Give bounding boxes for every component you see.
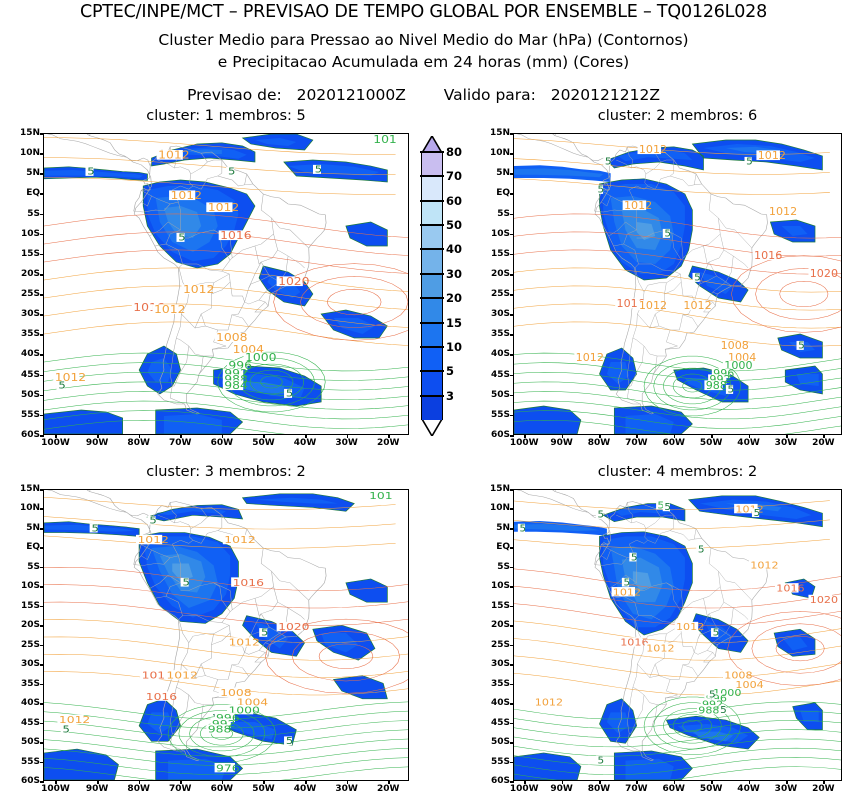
x-axis-label-80W-cluster-4: 80W	[588, 784, 610, 794]
y-axis-label-5N-cluster-4: 5N	[485, 523, 510, 533]
x-axis-label-70W-cluster-4: 70W	[625, 784, 647, 794]
colorbar-tick	[420, 297, 444, 299]
y-axis-label-30S-cluster-3: 30S	[15, 659, 40, 669]
map-svg-cluster-3: 1011012101210161020101210161012101610081…	[44, 490, 408, 780]
y-axis-label-5N-cluster-1: 5N	[15, 168, 40, 178]
y-axis-label-55S-cluster-2: 55S	[485, 410, 510, 420]
y-axis-label-45S-cluster-4: 45S	[485, 718, 510, 728]
y-axis-tick	[510, 294, 514, 296]
x-axis-label-100W-cluster-2: 100W	[510, 438, 539, 448]
colorbar-label-10: 10	[446, 340, 462, 354]
y-axis-label-35S-cluster-3: 35S	[15, 679, 40, 689]
country-border	[650, 314, 656, 328]
y-axis-label-10S-cluster-4: 10S	[485, 581, 510, 591]
colorbar-band-3	[421, 396, 443, 420]
x-axis-label-50W-cluster-3: 50W	[252, 784, 274, 794]
x-axis-label-40W-cluster-4: 40W	[737, 784, 759, 794]
y-axis-label-20S-cluster-3: 20S	[15, 620, 40, 630]
x-axis-tick	[139, 434, 141, 438]
isobar-label: 1012	[535, 697, 563, 708]
y-axis-label-10N-cluster-3: 10N	[15, 503, 40, 513]
colorbar-label-15: 15	[446, 316, 462, 330]
mslp-isobar	[514, 730, 841, 747]
x-axis-tick	[180, 434, 182, 438]
y-axis-tick	[40, 508, 44, 510]
y-axis-label-50S-cluster-2: 50S	[485, 390, 510, 400]
valid-label: Valido para:	[444, 86, 536, 104]
y-axis-tick	[510, 375, 514, 377]
colorbar-label-60: 60	[446, 194, 462, 208]
x-axis-tick	[347, 780, 349, 784]
isobar-label: 1020	[278, 621, 309, 632]
x-axis-tick	[263, 780, 265, 784]
y-axis-label-40S-cluster-1: 40S	[15, 349, 40, 359]
y-axis-tick	[40, 133, 44, 135]
colorbar-tick	[420, 200, 444, 202]
forecast-time-line: Previsao de: 2020121000Z Valido para: 20…	[0, 86, 847, 104]
y-axis-tick	[510, 489, 514, 491]
x-axis-label-80W-cluster-2: 80W	[588, 438, 610, 448]
x-axis-tick	[636, 434, 638, 438]
mslp-isobar	[514, 286, 841, 310]
isobar-label: 988	[698, 705, 719, 716]
isobar-label: 1020	[278, 275, 309, 288]
y-axis-tick	[40, 314, 44, 316]
y-axis-label-10S-cluster-1: 10S	[15, 229, 40, 239]
precip-contour-label: 5	[728, 385, 735, 396]
x-axis-label-50W-cluster-4: 50W	[700, 784, 722, 794]
isobar-label: 1020	[810, 595, 838, 606]
y-axis-label-55S-cluster-1: 55S	[15, 410, 40, 420]
x-axis-label-20W-cluster-1: 20W	[377, 438, 399, 448]
x-axis-label-60W-cluster-3: 60W	[211, 784, 233, 794]
y-axis-label-45S-cluster-1: 45S	[15, 370, 40, 380]
y-axis-label-15N-cluster-4: 15N	[485, 484, 510, 494]
x-axis-label-70W-cluster-2: 70W	[625, 438, 647, 448]
y-axis-label-20S-cluster-1: 20S	[15, 269, 40, 279]
precip-contour-label: 5	[624, 578, 631, 588]
colorbar-band-50	[421, 225, 443, 249]
country-border	[176, 338, 213, 356]
country-border	[724, 602, 748, 619]
precip-shading-level-5	[346, 579, 387, 602]
colorbar-tick	[420, 224, 444, 226]
isobar-label: 984	[224, 379, 248, 392]
x-axis-label-90W-cluster-4: 90W	[550, 784, 572, 794]
y-axis-label-10N-cluster-2: 10N	[485, 148, 510, 158]
precip-contour-label: 5	[720, 706, 727, 716]
y-axis-label-50S-cluster-1: 50S	[15, 390, 40, 400]
country-border	[176, 687, 213, 704]
colorbar-tick	[420, 151, 444, 153]
x-axis-tick	[786, 780, 788, 784]
country-border	[201, 645, 211, 676]
x-axis-label-30W-cluster-2: 30W	[775, 438, 797, 448]
y-axis-tick	[40, 567, 44, 569]
precip-contour-label: 5	[62, 724, 69, 735]
x-axis-label-90W-cluster-1: 90W	[86, 438, 108, 448]
country-border	[703, 652, 712, 662]
y-axis-tick	[510, 625, 514, 627]
mslp-isobar	[44, 391, 408, 409]
x-axis-label-30W-cluster-3: 30W	[335, 784, 357, 794]
precip-contour-label: 5	[598, 756, 605, 766]
precip-contour-label: 5	[713, 628, 720, 638]
precip-contour-label: 5	[664, 503, 671, 513]
x-axis-label-50W-cluster-1: 50W	[252, 438, 274, 448]
precip-contour-label: 5	[694, 273, 701, 284]
country-border	[245, 300, 259, 304]
country-border	[637, 314, 679, 330]
y-axis-label-35S-cluster-2: 35S	[485, 329, 510, 339]
y-axis-label-60S-cluster-2: 60S	[485, 430, 510, 440]
panel-title-cluster-1: cluster: 1 membros: 5	[43, 108, 409, 124]
x-axis-tick	[599, 780, 601, 784]
country-border	[195, 314, 201, 328]
y-axis-tick	[40, 173, 44, 175]
country-border	[694, 650, 707, 654]
y-axis-label-30S-cluster-4: 30S	[485, 659, 510, 669]
colorbar-band-10	[421, 347, 443, 371]
x-axis-tick	[305, 780, 307, 784]
x-axis-tick	[55, 780, 57, 784]
y-axis-label-60S-cluster-3: 60S	[15, 776, 40, 786]
map-canvas-cluster-2: 1012101210121012101610201012101610121008…	[514, 134, 841, 434]
mslp-isobar	[514, 304, 841, 328]
x-axis-tick	[823, 434, 825, 438]
map-svg-cluster-1: 1012101210121016101610121012102010081004…	[44, 134, 408, 434]
y-axis-tick	[510, 684, 514, 686]
x-axis-tick	[305, 434, 307, 438]
y-axis-label-EQ-cluster-4: EQ	[485, 542, 510, 552]
x-axis-label-30W-cluster-4: 30W	[775, 784, 797, 794]
y-axis-tick	[40, 684, 44, 686]
country-border	[644, 285, 648, 292]
map-panel-cluster-2[interactable]: 1012101210121012101610201012101610121008…	[513, 133, 842, 435]
y-axis-tick	[510, 173, 514, 175]
precip-shading-level-5	[346, 222, 387, 246]
country-border	[724, 250, 748, 268]
country-border	[666, 679, 677, 694]
precip-contour-label: 5	[261, 628, 268, 639]
isobar-label: 1012	[576, 351, 604, 363]
country-border	[709, 548, 752, 600]
x-axis-tick	[674, 780, 676, 784]
x-axis-label-90W-cluster-2: 90W	[550, 438, 572, 448]
y-axis-tick	[510, 234, 514, 236]
y-axis-tick	[510, 586, 514, 588]
y-axis-label-45S-cluster-2: 45S	[485, 370, 510, 380]
x-axis-tick	[674, 434, 676, 438]
panel-title-cluster-3: cluster: 3 membros: 2	[43, 464, 409, 480]
isobar-label: 101	[373, 134, 397, 146]
y-axis-label-25S-cluster-1: 25S	[15, 289, 40, 299]
y-axis-tick	[510, 567, 514, 569]
precipitation-colorbar[interactable]: 80706050403020151053	[421, 136, 443, 436]
subtitle-line-2: e Precipitacao Acumulada em 24 horas (mm…	[0, 53, 847, 71]
y-axis-tick	[40, 214, 44, 216]
isobar-label: 1008	[216, 331, 247, 344]
x-axis-tick	[347, 434, 349, 438]
mslp-isobar	[731, 256, 841, 333]
x-axis-label-30W-cluster-1: 30W	[335, 438, 357, 448]
precip-contour-label: 5	[798, 341, 805, 352]
country-border	[189, 636, 193, 643]
y-axis-label-40S-cluster-3: 40S	[15, 698, 40, 708]
y-axis-tick	[510, 606, 514, 608]
colorbar-under-arrow	[421, 419, 443, 436]
colorbar-tick	[420, 322, 444, 324]
x-axis-label-20W-cluster-2: 20W	[812, 438, 834, 448]
precip-contour-label: 5	[182, 577, 189, 588]
precip-contour-label: 5	[91, 523, 98, 534]
isobar-label: 1016	[620, 637, 649, 648]
y-axis-label-5S-cluster-1: 5S	[15, 209, 40, 219]
y-axis-tick	[510, 742, 514, 744]
y-axis-tick	[510, 435, 514, 437]
country-border	[694, 184, 701, 185]
precip-contour-label: 5	[286, 388, 293, 400]
precip-contour-label: 5	[178, 232, 185, 244]
country-border	[90, 134, 107, 136]
isobar-label: 1012	[646, 643, 674, 654]
y-axis-tick	[510, 723, 514, 725]
country-border	[646, 517, 661, 529]
y-axis-label-60S-cluster-1: 60S	[15, 430, 40, 440]
precip-contour-label: 5	[598, 185, 605, 196]
isobar-label: 1012	[683, 299, 711, 311]
y-axis-tick	[40, 742, 44, 744]
colorbar-label-30: 30	[446, 267, 462, 281]
colorbar-tick	[420, 248, 444, 250]
isobar-label: 1012	[758, 149, 786, 161]
y-axis-tick	[510, 415, 514, 417]
y-axis-label-10N-cluster-1: 10N	[15, 148, 40, 158]
y-axis-tick	[40, 274, 44, 276]
y-axis-label-45S-cluster-3: 45S	[15, 718, 40, 728]
y-axis-tick	[40, 395, 44, 397]
y-axis-label-20S-cluster-2: 20S	[485, 269, 510, 279]
panel-title-cluster-2: cluster: 2 membros: 6	[513, 108, 842, 124]
country-border	[703, 246, 709, 264]
country-border	[664, 282, 681, 294]
country-border	[683, 315, 698, 327]
x-axis-label-20W-cluster-4: 20W	[812, 784, 834, 794]
y-axis-tick	[40, 334, 44, 336]
y-axis-tick	[40, 354, 44, 356]
y-axis-tick	[510, 214, 514, 216]
x-axis-label-70W-cluster-3: 70W	[169, 784, 191, 794]
precip-shading-level-5	[334, 676, 388, 699]
country-border	[245, 184, 253, 185]
colorbar-tick	[420, 395, 444, 397]
x-axis-label-100W-cluster-1: 100W	[41, 438, 70, 448]
y-axis-label-40S-cluster-2: 40S	[485, 349, 510, 359]
precip-contour-label: 5	[631, 553, 638, 563]
y-axis-label-50S-cluster-3: 50S	[15, 737, 40, 747]
isobar-label: 1012	[769, 205, 797, 217]
country-border	[703, 598, 709, 615]
precip-contour-label: 5	[87, 166, 94, 178]
x-axis-label-100W-cluster-3: 100W	[41, 784, 70, 794]
y-axis-tick	[40, 586, 44, 588]
country-border	[666, 330, 677, 346]
y-axis-label-EQ-cluster-3: EQ	[15, 542, 40, 552]
x-axis-tick	[388, 780, 390, 784]
country-border	[670, 529, 696, 541]
y-axis-label-15S-cluster-4: 15S	[485, 601, 510, 611]
x-axis-tick	[97, 780, 99, 784]
precip-contour-label: 5	[664, 229, 671, 240]
y-axis-label-25S-cluster-3: 25S	[15, 640, 40, 650]
x-axis-tick	[711, 434, 713, 438]
y-axis-tick	[40, 547, 44, 549]
country-border	[261, 548, 309, 600]
map-panel-cluster-4[interactable]: 1012510121016102010121012101610121008100…	[513, 489, 842, 781]
y-axis-label-55S-cluster-3: 55S	[15, 757, 40, 767]
colorbar-tick	[420, 370, 444, 372]
y-axis-label-25S-cluster-4: 25S	[485, 640, 510, 650]
isobar-label: 1008	[721, 339, 749, 351]
country-border	[228, 647, 245, 680]
y-axis-label-5N-cluster-2: 5N	[485, 168, 510, 178]
y-axis-tick	[510, 334, 514, 336]
y-axis-label-EQ-cluster-2: EQ	[485, 188, 510, 198]
y-axis-tick	[510, 395, 514, 397]
x-axis-tick	[139, 780, 141, 784]
y-axis-tick	[40, 375, 44, 377]
isobar-label: 1012	[183, 283, 214, 296]
isobar-label: 1012	[624, 199, 652, 211]
precip-contour-label: 5	[286, 736, 293, 747]
isobar-label: 976	[216, 763, 240, 774]
mslp-isobar	[780, 281, 828, 307]
isobar-label: 1012	[613, 587, 641, 598]
x-axis-label-90W-cluster-3: 90W	[86, 784, 108, 794]
country-border	[679, 647, 694, 680]
colorbar-band-80	[421, 152, 443, 176]
map-canvas-cluster-3: 1011012101210161020101210161012101610081…	[44, 490, 408, 780]
country-border	[709, 194, 752, 248]
x-axis-tick	[263, 434, 265, 438]
forecast-label: Previsao de:	[187, 86, 282, 104]
map-panel-cluster-3[interactable]: 1011012101210161020101210161012101610081…	[43, 489, 409, 781]
country-border	[694, 538, 701, 539]
country-border	[650, 664, 656, 678]
y-axis-tick	[40, 435, 44, 437]
y-axis-tick	[510, 762, 514, 764]
y-axis-tick	[510, 547, 514, 549]
x-axis-label-40W-cluster-3: 40W	[294, 784, 316, 794]
y-axis-label-55S-cluster-4: 55S	[485, 757, 510, 767]
panel-title-cluster-4: cluster: 4 membros: 2	[513, 464, 842, 480]
isobar-label: 1012	[639, 299, 667, 311]
colorbar-band-20	[421, 298, 443, 322]
colorbar-label-5: 5	[446, 364, 454, 378]
isobar-label: 1012	[171, 189, 202, 202]
x-axis-label-40W-cluster-2: 40W	[737, 438, 759, 448]
y-axis-tick	[510, 664, 514, 666]
x-axis-tick	[562, 434, 564, 438]
country-border	[633, 687, 666, 704]
colorbar-label-80: 80	[446, 145, 462, 159]
precip-contour-label: 5	[598, 510, 605, 520]
y-axis-tick	[510, 274, 514, 276]
isobar-label: 1016	[220, 229, 251, 242]
isobar-label: 1012	[166, 670, 197, 681]
y-axis-label-10S-cluster-2: 10S	[485, 229, 510, 239]
y-axis-tick	[510, 193, 514, 195]
country-border	[232, 587, 273, 610]
precip-contour-label: 5	[149, 516, 156, 527]
country-border	[646, 162, 661, 174]
x-axis-label-60W-cluster-1: 60W	[211, 438, 233, 448]
y-axis-tick	[40, 606, 44, 608]
y-axis-label-25S-cluster-2: 25S	[485, 289, 510, 299]
y-axis-label-15S-cluster-3: 15S	[15, 601, 40, 611]
x-axis-tick	[524, 434, 526, 438]
y-axis-label-5N-cluster-3: 5N	[15, 523, 40, 533]
y-axis-tick	[510, 133, 514, 135]
y-axis-tick	[510, 703, 514, 705]
country-border	[255, 598, 261, 615]
precip-contour-label: 5	[519, 524, 526, 534]
y-axis-tick	[510, 153, 514, 155]
x-axis-tick	[388, 434, 390, 438]
x-axis-tick	[749, 780, 751, 784]
x-axis-label-20W-cluster-3: 20W	[377, 784, 399, 794]
x-axis-tick	[786, 434, 788, 438]
y-axis-tick	[40, 625, 44, 627]
mslp-isobar	[514, 391, 841, 409]
map-svg-cluster-4: 1012510121016102010121012101610121008100…	[514, 490, 841, 780]
map-svg-cluster-2: 1012101210121012101610201012101610121008…	[514, 134, 841, 434]
country-border	[232, 665, 249, 677]
map-panel-cluster-1[interactable]: 1012101210121016101610121012102010081004…	[43, 133, 409, 435]
y-axis-tick	[40, 153, 44, 155]
x-axis-label-60W-cluster-2: 60W	[663, 438, 685, 448]
isobar-label: 1012	[639, 143, 667, 155]
isobar-label: 1016	[146, 691, 177, 702]
colorbar-tick	[420, 346, 444, 348]
y-axis-label-30S-cluster-1: 30S	[15, 309, 40, 319]
y-axis-label-5S-cluster-3: 5S	[15, 562, 40, 572]
country-border	[555, 490, 570, 492]
y-axis-tick	[40, 664, 44, 666]
y-axis-label-15N-cluster-1: 15N	[15, 128, 40, 138]
precip-contour-label: 5	[709, 690, 716, 700]
subtitle-line-1: Cluster Medio para Pressao ao Nivel Medi…	[0, 31, 847, 49]
y-axis-label-5S-cluster-4: 5S	[485, 562, 510, 572]
isobar-label: 1012	[750, 560, 778, 571]
country-border	[201, 294, 211, 326]
y-axis-label-15N-cluster-3: 15N	[15, 484, 40, 494]
x-axis-label-80W-cluster-3: 80W	[127, 784, 149, 794]
y-axis-label-60S-cluster-4: 60S	[485, 776, 510, 786]
y-axis-label-10S-cluster-3: 10S	[15, 581, 40, 591]
map-canvas-cluster-4: 1012510121016102010121012101610121008100…	[514, 490, 841, 780]
country-border	[90, 490, 107, 492]
y-axis-label-40S-cluster-4: 40S	[485, 698, 510, 708]
colorbar-band-30	[421, 274, 443, 298]
valid-time: 2020121212Z	[551, 86, 660, 104]
precip-contour-label: 5	[746, 157, 753, 168]
country-border	[191, 162, 208, 174]
isobar-label: 1012	[224, 534, 255, 545]
y-axis-tick	[510, 781, 514, 783]
isobar-label: 1012	[158, 149, 189, 162]
precip-contour-label: 5	[58, 380, 65, 392]
